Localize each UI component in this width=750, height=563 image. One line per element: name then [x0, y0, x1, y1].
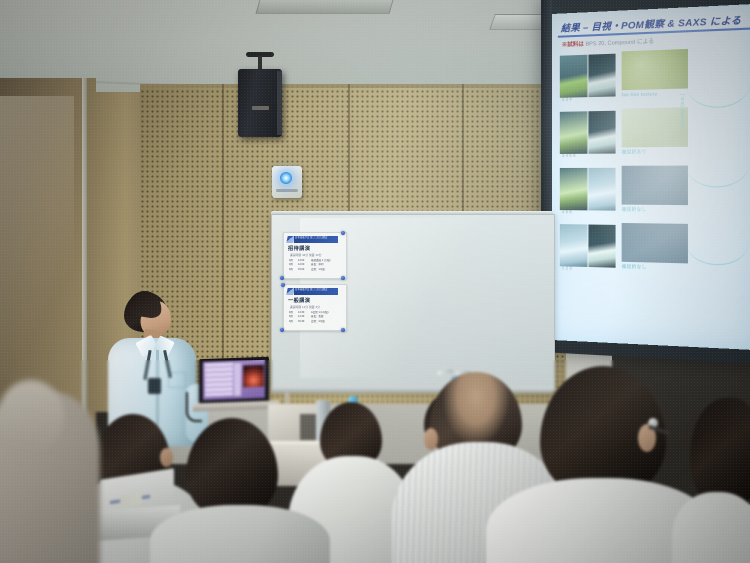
magnet-icon [280, 276, 284, 280]
row-caption: 複屈折あり [622, 149, 647, 155]
sample-photo-pair [560, 111, 616, 154]
poster-meta: 講演時間 40分 質疑 10分 [290, 253, 322, 257]
pom-micrograph [622, 49, 688, 90]
wall-panel-seam [462, 84, 464, 214]
row-caption: 複屈折なし [622, 264, 647, 271]
poster-row-text: 会場：1号館 [311, 268, 343, 272]
row-label: 2 3 4 [562, 97, 572, 102]
magnet-icon [341, 328, 345, 332]
audience-ear [424, 428, 438, 450]
speaker-badge [252, 106, 269, 110]
monitor-preview-pane [243, 365, 264, 388]
sample-vial-photo [560, 55, 587, 98]
poster-row-time: 15:30 [298, 320, 309, 324]
poster-invited-lecture: 日本液晶学会 第◯◯回 討論会 招待講演 講演時間 40分 質疑 10分 9月 … [283, 232, 347, 279]
poster-schedule-row: 9月 15:00 会場：1号館 [289, 268, 343, 272]
poster-title: 招待講演 [288, 245, 310, 252]
audience-head-blur [0, 380, 64, 452]
poster-title: 一般講演 [288, 297, 310, 304]
magnet-icon [281, 283, 285, 287]
conference-room-photo: 結果 – 目視・POM観察 & SAXS による ※試料は BPS 20, Co… [0, 0, 750, 563]
monitor-toolbar-pane [234, 363, 241, 396]
poster-schedule-row: 9月 15:30 会場：2号館 [289, 320, 343, 324]
sample-vial-photo [588, 111, 616, 154]
audience-ear [160, 448, 173, 467]
saxs-curve [684, 161, 750, 188]
saxs-axis-label: Intensity (a.u.) [680, 93, 685, 130]
row-caption: fan-like texture [622, 91, 658, 97]
pom-micrograph [622, 223, 688, 263]
speaker-side [277, 71, 282, 135]
name-badge [148, 378, 161, 394]
poster-schedule-list: 9月 13:30 A会場 1 (1号館) 9月 14:30 座長：佐藤 9月 1… [289, 311, 343, 324]
row-label: 3 4 5 6 [562, 153, 576, 158]
row-caption: 複屈折なし [622, 207, 647, 213]
poster-row-date: 9月 [289, 320, 296, 324]
ceiling-vent-icon [255, 0, 394, 14]
poster-row-date: 9月 [289, 268, 296, 272]
row-label: 4 5 6 [562, 209, 572, 214]
wall-device-slot [276, 189, 298, 192]
saxs-curve [686, 83, 750, 109]
sample-photo-pair [560, 54, 616, 98]
poster-header-text: 日本液晶学会 第◯◯回 討論会 [295, 288, 337, 291]
pom-micrograph [622, 107, 688, 147]
wall-light-glow [0, 96, 74, 396]
sample-vial-photo [588, 54, 616, 97]
saxs-curve [686, 243, 748, 266]
poster-schedule-list: 9月 13:00 基調講演 1 (大阪) 9月 14:00 座長：中村 9月 1… [289, 259, 343, 272]
sample-vial-photo [560, 111, 587, 154]
sample-vial-photo [588, 168, 616, 211]
led-indicator-icon [280, 172, 292, 184]
magnet-icon [341, 276, 345, 280]
poster-row-text: 会場：2号館 [311, 320, 343, 324]
sample-vial-photo [560, 168, 587, 210]
pom-micrograph [622, 166, 688, 206]
poster-general-lecture: 日本液晶学会 第◯◯回 討論会 一般講演 講演時間 12分 質疑 3分 9月 1… [283, 284, 347, 331]
sample-photo-pair [560, 224, 616, 268]
speaker-bracket [258, 56, 262, 70]
magnet-icon [280, 328, 284, 332]
magnet-icon [341, 231, 345, 235]
sample-vial-photo [560, 224, 587, 267]
sample-photo-pair [560, 168, 616, 211]
slide-subtitle-red: ※試料は [562, 42, 584, 49]
monitor-cable [186, 392, 202, 422]
poster-meta: 講演時間 12分 質疑 3分 [290, 305, 320, 309]
ceiling-speaker-icon [238, 69, 282, 137]
poster-row-time: 15:00 [298, 268, 309, 272]
saxs-plot: Intensity (a.u.) [682, 36, 750, 344]
sample-vial-photo [588, 225, 616, 268]
projected-slide: 結果 – 目視・POM観察 & SAXS による ※試料は BPS 20, Co… [552, 4, 750, 350]
monitor-slide-list-pane [205, 363, 233, 397]
poster-header-text: 日本液晶学会 第◯◯回 討論会 [295, 236, 337, 239]
wall-trim [140, 84, 570, 88]
row-label: 1 2 3 [562, 265, 572, 270]
audience-shoulders [150, 505, 330, 563]
